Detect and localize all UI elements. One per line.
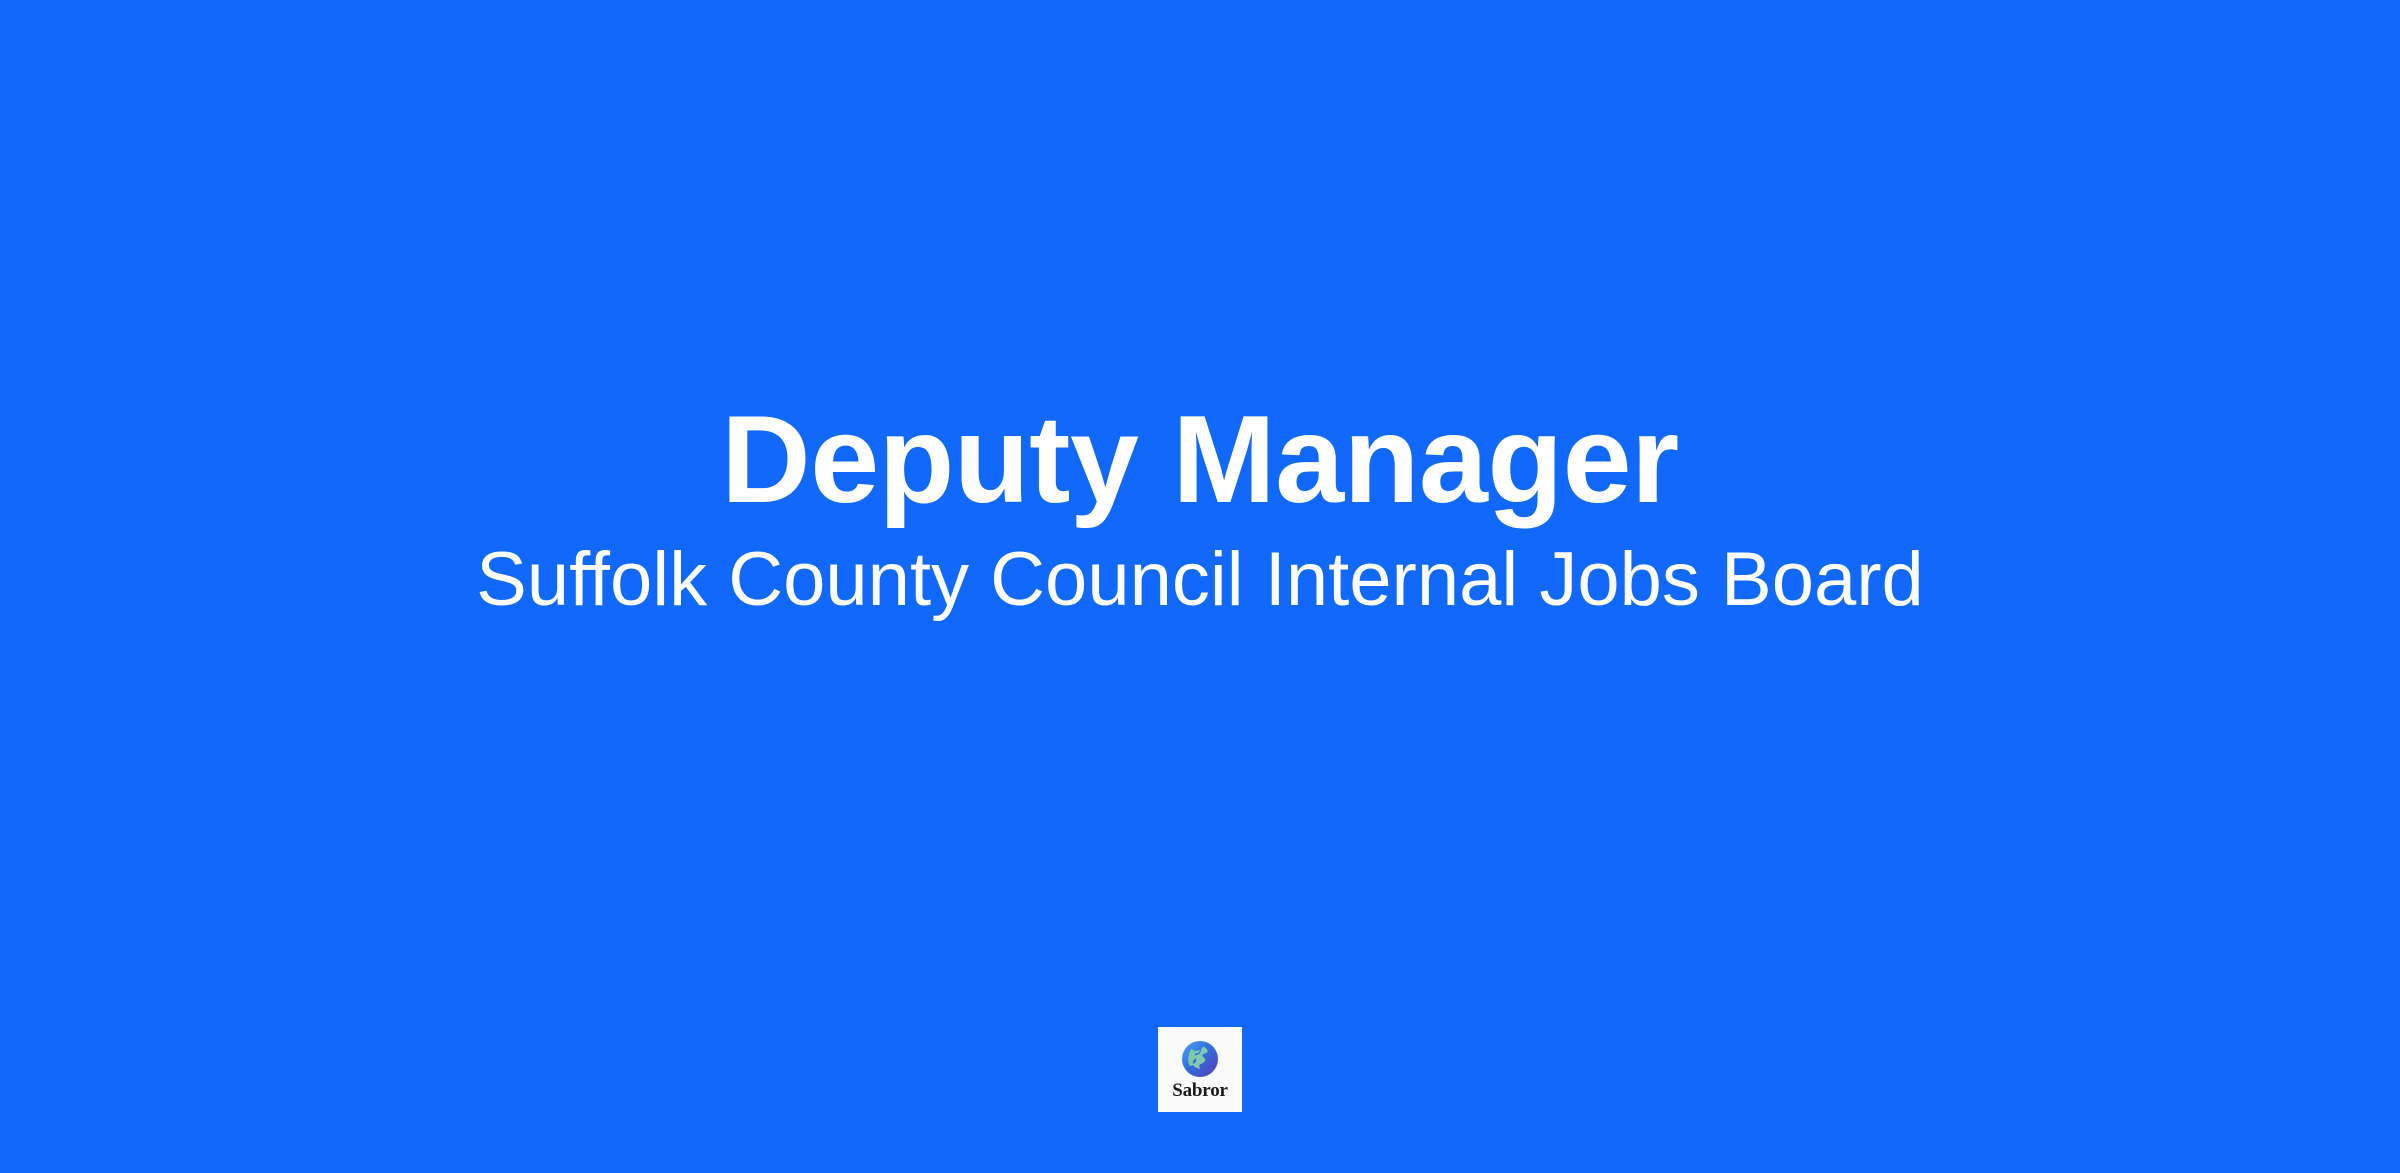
page-subtitle: Suffolk County Council Internal Jobs Boa… [476, 540, 1924, 620]
page-title: Deputy Manager [721, 398, 1679, 522]
hero-text-block: Deputy Manager Suffolk County Council In… [0, 398, 2400, 620]
job-share-card: Deputy Manager Suffolk County Council In… [0, 0, 2400, 1173]
brand-logo[interactable]: Sabror [1158, 1027, 1242, 1112]
globe-icon [1180, 1039, 1220, 1079]
brand-name-label: Sabror [1172, 1081, 1227, 1100]
